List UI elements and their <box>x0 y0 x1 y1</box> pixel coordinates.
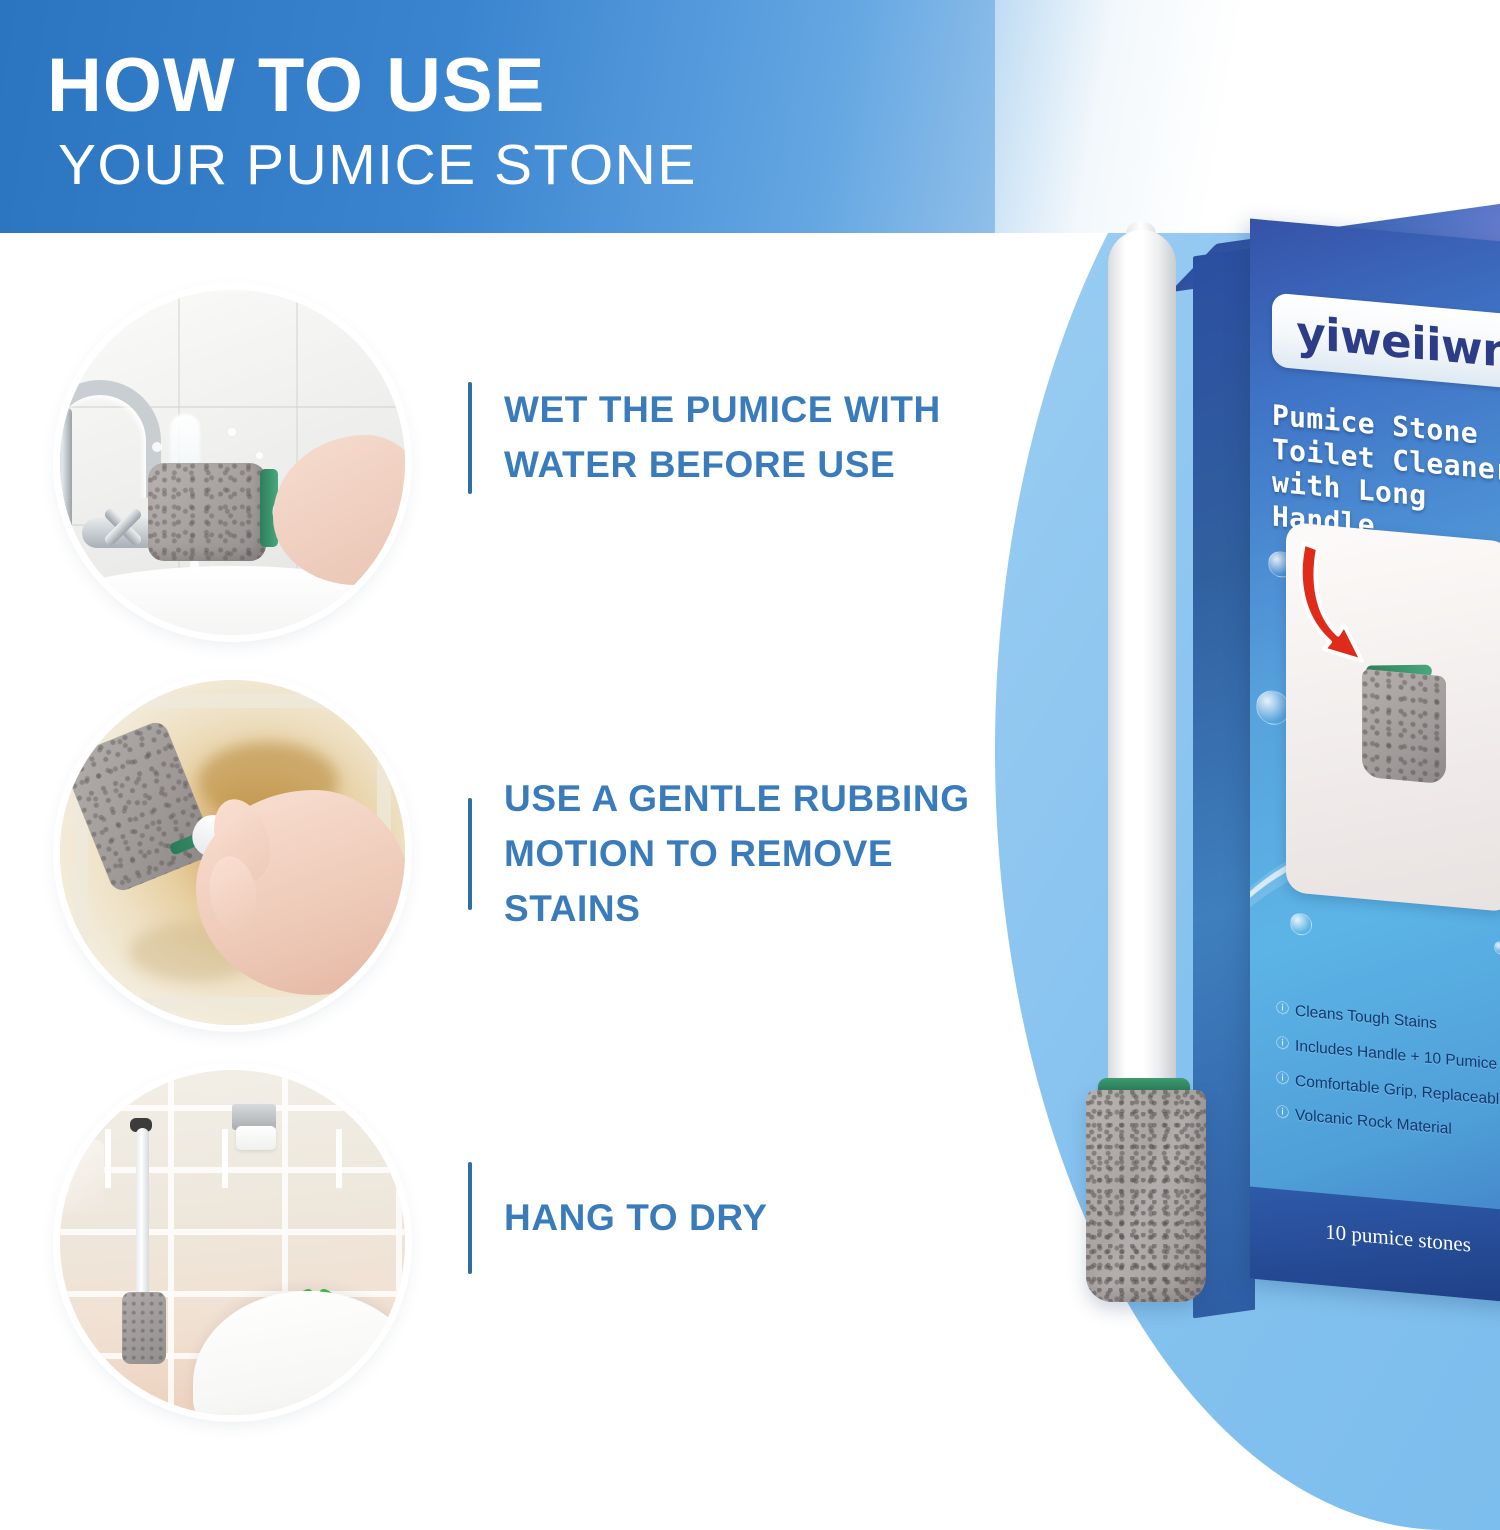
feature-label: Volcanic Rock Material <box>1295 1107 1452 1139</box>
pumice-stone-count-label: 10 pumice stones <box>1250 1213 1500 1265</box>
product-feature-list: ⓘ Cleans Tough Stains ⓘ Includes Handle … <box>1276 1001 1500 1165</box>
feature-item: ⓘ Comfortable Grip, Replaceable Design <box>1276 1071 1500 1113</box>
hanging-white-handle <box>136 1128 149 1298</box>
red-arrow-icon <box>1290 534 1400 674</box>
photo-brush-hanging-on-bathroom-wall <box>60 1070 405 1415</box>
step-label: USE A GENTLE RUBBING MOTION TO REMOVE ST… <box>504 772 988 936</box>
step-divider-line <box>468 382 472 494</box>
subway-tile-offset-row <box>60 1129 405 1188</box>
step-text-block: USE A GENTLE RUBBING MOTION TO REMOVE ST… <box>468 772 988 936</box>
bubble-decoration <box>1256 689 1290 726</box>
product-pumice-head <box>1086 1090 1206 1302</box>
photo-rinsing-pumice-under-faucet <box>60 290 405 635</box>
bullet-marker-icon: ⓘ <box>1276 1001 1289 1017</box>
step-label: HANG TO DRY <box>504 1191 768 1246</box>
step-divider-line <box>468 1162 472 1274</box>
step-text-block: HANG TO DRY <box>468 1162 988 1274</box>
step-text-block: WET THE PUMICE WITH WATER BEFORE USE <box>468 382 988 494</box>
cistern-edge <box>60 1140 104 1212</box>
tap-cross-handle <box>100 504 146 550</box>
bullet-marker-icon: ⓘ <box>1276 1105 1289 1121</box>
water-droplet <box>190 559 199 573</box>
feature-label: Includes Handle + 10 Pumice Stones <box>1295 1037 1500 1078</box>
product-illustration-panel <box>1286 522 1500 913</box>
step-label: WET THE PUMICE WITH WATER BEFORE USE <box>504 383 988 493</box>
bullet-marker-icon: ⓘ <box>1276 1036 1289 1052</box>
photo-scrubbing-stained-sink <box>60 680 405 1025</box>
step-row: WET THE PUMICE WITH WATER BEFORE USE <box>0 290 1000 635</box>
feature-item: ⓘ Includes Handle + 10 Pumice Stones <box>1276 1036 1500 1078</box>
water-droplet <box>152 442 162 452</box>
step-divider-line <box>468 798 472 910</box>
page-subtitle: YOUR PUMICE STONE <box>58 137 697 194</box>
hanging-pumice-head <box>122 1292 166 1364</box>
product-box-footer-band: 10 pumice stones <box>1250 1187 1500 1306</box>
water-droplet <box>228 428 236 436</box>
pumice-stone-illustration <box>1362 669 1446 785</box>
feature-item: ⓘ Volcanic Rock Material <box>1276 1105 1500 1147</box>
step-row: USE A GENTLE RUBBING MOTION TO REMOVE ST… <box>0 680 1000 1025</box>
pumice-stone-head <box>148 463 266 561</box>
feature-label: Comfortable Grip, Replaceable Design <box>1295 1072 1500 1114</box>
page-title: HOW TO USE <box>47 48 545 124</box>
product-photo-group: yiweiiwn Pumice Stone Toilet Cleaner wit… <box>1060 216 1500 1336</box>
bullet-marker-icon: ⓘ <box>1276 1071 1289 1087</box>
brand-logo-badge: yiweiiwn <box>1272 293 1500 391</box>
toilet-paper-roll <box>236 1126 276 1150</box>
product-long-handle <box>1108 230 1176 1100</box>
product-box-front-face: yiweiiwn Pumice Stone Toilet Cleaner wit… <box>1250 219 1500 1306</box>
step-row: HANG TO DRY <box>0 1070 1000 1415</box>
brand-name: yiweiiwn <box>1296 305 1500 378</box>
